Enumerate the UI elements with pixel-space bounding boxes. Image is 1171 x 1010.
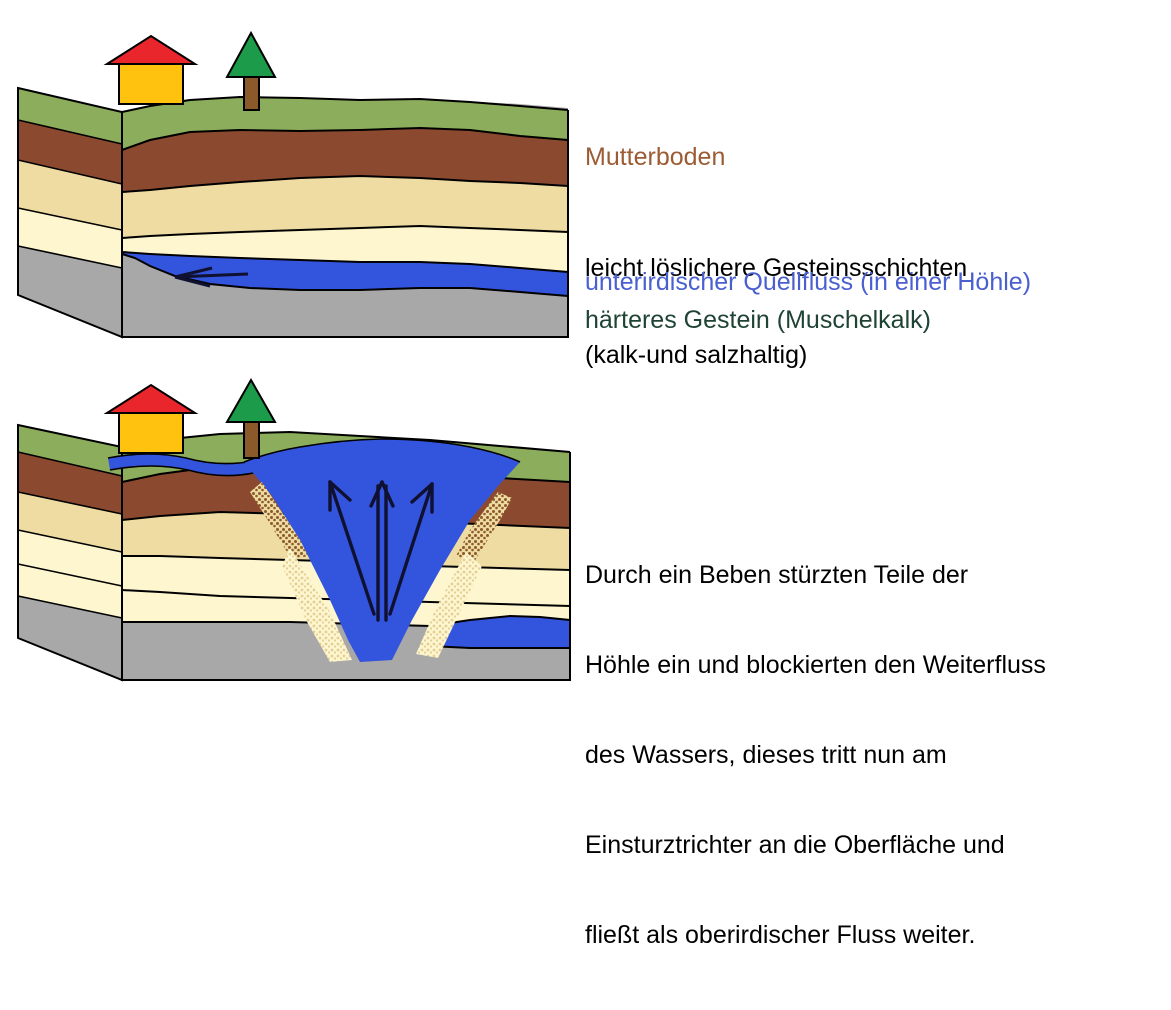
label-underground-spring-river: unterirdischer Quellfluss (in einer Höhl…: [585, 268, 1031, 297]
house-icon: [107, 36, 195, 104]
diagram-canvas: Mutterboden leicht löslichere Gesteinssc…: [0, 0, 1171, 819]
top-block-left-face: [18, 88, 122, 337]
description-line-1: Durch ein Beben stürzten Teile der: [585, 560, 1046, 590]
label-mutterboden: Mutterboden: [585, 143, 725, 172]
top-block: [18, 33, 568, 337]
description-earthquake-sinkhole: Durch ein Beben stürzten Teile der Höhle…: [585, 500, 1046, 1010]
description-line-3: des Wassers, dieses tritt nun am: [585, 740, 1046, 770]
description-line-2: Höhle ein und blockierten den Weiterflus…: [585, 650, 1046, 680]
label-harder-rock: härteres Gestein (Muschelkalk): [585, 306, 931, 335]
label-soluble-line-2: (kalk-und salzhaltig): [585, 341, 967, 370]
bottom-block: [18, 380, 570, 680]
top-block-front-face: [122, 97, 568, 337]
description-line-4: Einsturztrichter an die Oberfläche und: [585, 830, 1046, 860]
bottom-block-left-face: [18, 425, 122, 680]
description-line-5: fließt als oberirdischer Fluss weiter.: [585, 920, 1046, 950]
house-icon-bottom: [107, 385, 195, 453]
